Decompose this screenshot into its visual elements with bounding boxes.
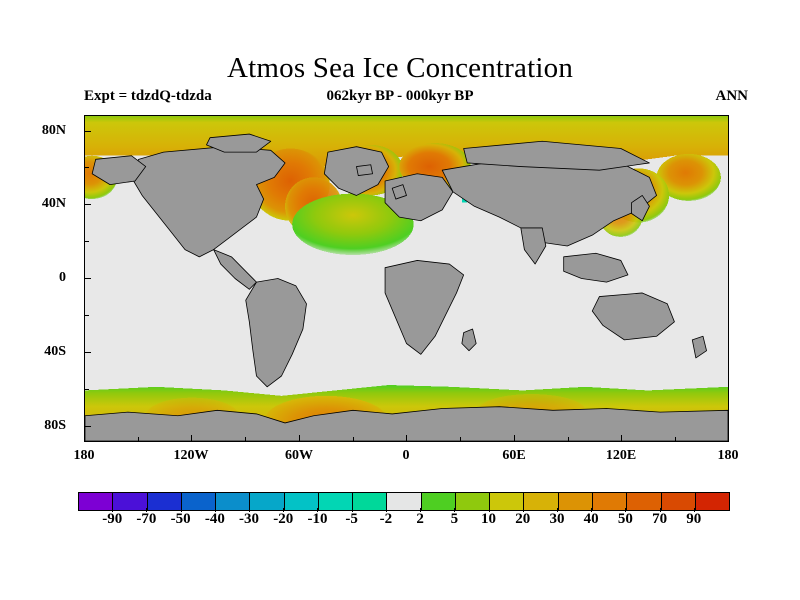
- xtick-mark-180w: [84, 435, 85, 442]
- colorbar: [78, 492, 730, 511]
- colorbar-cell-11: [456, 493, 490, 510]
- xtick-label-180w: 180: [74, 448, 95, 464]
- xtick-mark-120w: [191, 435, 192, 442]
- ytick-label-40n: 40N: [42, 196, 66, 212]
- figure: Atmos Sea Ice Concentration 062kyr BP - …: [0, 0, 800, 600]
- colorbar-tick-label-16: 70: [652, 511, 667, 528]
- xtick-mark-0: [406, 435, 407, 442]
- colorbar-ticks: -90-70-50-40-30-20-10-5-2251020304050709…: [78, 511, 730, 533]
- ytick-mark-80n: [84, 131, 91, 132]
- season-label: ANN: [716, 88, 749, 105]
- colorbar-cell-14: [559, 493, 593, 510]
- map-canvas: [85, 116, 728, 441]
- xtick-mark-150w: [138, 437, 139, 442]
- colorbar-tick-label-1: -70: [136, 511, 156, 528]
- ytick-mark-20s: [84, 315, 89, 316]
- page-title: Atmos Sea Ice Concentration: [0, 52, 800, 85]
- colorbar-tick-label-8: -2: [380, 511, 393, 528]
- xtick-mark-180e: [728, 435, 729, 442]
- colorbar-cell-9: [387, 493, 421, 510]
- colorbar-tick-label-10: 5: [451, 511, 459, 528]
- ytick-mark-40n: [84, 204, 91, 205]
- ytick-label-0: 0: [59, 270, 66, 286]
- colorbar-tick-label-5: -20: [273, 511, 293, 528]
- colorbar-cell-8: [353, 493, 387, 510]
- xtick-label-180e: 180: [718, 448, 739, 464]
- xtick-mark-30w: [353, 437, 354, 442]
- xtick-label-60w: 60W: [285, 448, 313, 464]
- ytick-label-80s: 80S: [44, 418, 66, 434]
- colorbar-cell-13: [524, 493, 558, 510]
- colorbar-cell-2: [148, 493, 182, 510]
- colorbar-tick-label-14: 40: [584, 511, 599, 528]
- colorbar-cell-6: [285, 493, 319, 510]
- xtick-label-120w: 120W: [174, 448, 209, 464]
- colorbar-tick-label-17: 90: [686, 511, 701, 528]
- xtick-mark-90w: [245, 437, 246, 442]
- colorbar-tick-label-11: 10: [481, 511, 496, 528]
- ytick-mark-20n: [84, 241, 89, 242]
- ytick-label-40s: 40S: [44, 344, 66, 360]
- xtick-mark-30e: [460, 437, 461, 442]
- colorbar-cell-3: [182, 493, 216, 510]
- xtick-mark-90e: [568, 437, 569, 442]
- xtick-label-60e: 60E: [502, 448, 525, 464]
- colorbar-cell-0: [79, 493, 113, 510]
- ytick-mark-0: [84, 278, 91, 279]
- colorbar-cell-1: [113, 493, 147, 510]
- colorbar-cell-10: [422, 493, 456, 510]
- colorbar-tick-label-15: 50: [618, 511, 633, 528]
- colorbar-tick-label-0: -90: [102, 511, 122, 528]
- colorbar-tick-label-7: -5: [345, 511, 358, 528]
- colorbar-cell-18: [696, 493, 729, 510]
- colorbar-tick-label-13: 30: [549, 511, 564, 528]
- ytick-mark-40s: [84, 352, 91, 353]
- xtick-mark-120e: [621, 435, 622, 442]
- map-panel: [84, 115, 729, 442]
- xtick-label-0: 0: [403, 448, 410, 464]
- colorbar-tick-label-6: -10: [307, 511, 327, 528]
- colorbar-tick-label-12: 20: [515, 511, 530, 528]
- colorbar-cell-15: [593, 493, 627, 510]
- xtick-mark-60e: [514, 435, 515, 442]
- land-iceland: [356, 165, 372, 176]
- colorbar-cell-5: [250, 493, 284, 510]
- colorbar-tick-label-4: -30: [239, 511, 259, 528]
- ytick-mark-60s: [84, 389, 89, 390]
- ytick-label-80n: 80N: [42, 123, 66, 139]
- colorbar-cell-16: [627, 493, 661, 510]
- world-map: [85, 116, 728, 441]
- ytick-mark-60n: [84, 167, 89, 168]
- colorbar-cell-4: [216, 493, 250, 510]
- ytick-mark-80s: [84, 426, 91, 427]
- colorbar-cell-12: [490, 493, 524, 510]
- colorbar-tick-label-3: -40: [205, 511, 225, 528]
- colorbar-tick-label-9: 2: [416, 511, 424, 528]
- xtick-mark-150e: [675, 437, 676, 442]
- experiment-label: Expt = tdzdQ-tdzda: [84, 88, 212, 105]
- xtick-label-120e: 120E: [606, 448, 636, 464]
- xtick-mark-60w: [299, 435, 300, 442]
- colorbar-cell-17: [662, 493, 696, 510]
- colorbar-cell-7: [319, 493, 353, 510]
- colorbar-tick-label-2: -50: [171, 511, 191, 528]
